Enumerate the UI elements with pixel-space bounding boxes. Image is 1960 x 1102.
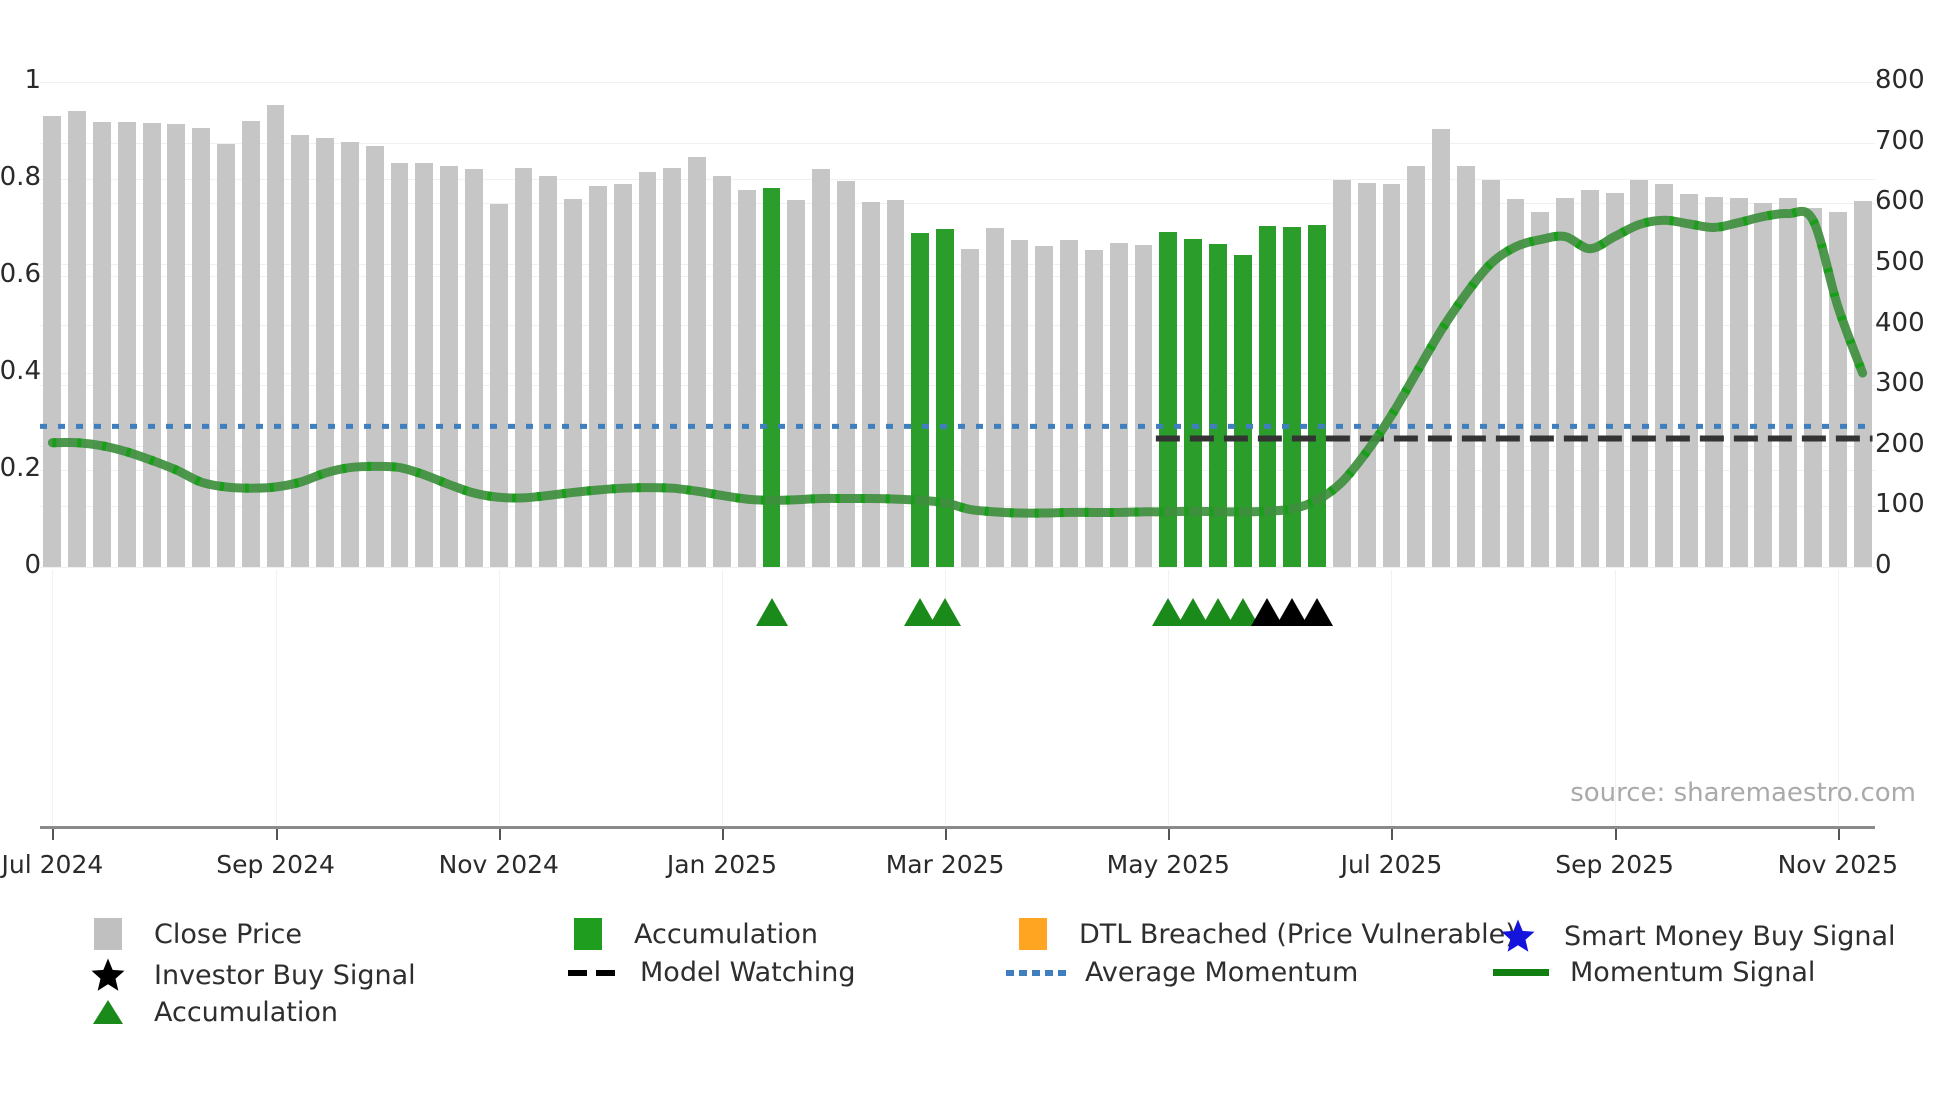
legend-label: Momentum Signal [1570, 957, 1815, 988]
close-price-bar[interactable] [68, 111, 86, 567]
close-price-bar[interactable] [1804, 208, 1822, 567]
close-price-bar[interactable] [43, 116, 61, 567]
y-tick-left: 0.4 [0, 356, 41, 386]
accumulation-bar[interactable] [1209, 244, 1227, 567]
x-tick-label: Sep 2025 [1555, 850, 1674, 879]
legend-momentum-signal[interactable]: Momentum Signal [1490, 957, 1815, 988]
close-price-bar[interactable] [465, 169, 483, 567]
investor-buy-triangle-marker[interactable] [1301, 598, 1333, 626]
y-tick-left: 0 [24, 550, 41, 580]
close-price-bar[interactable] [539, 176, 557, 567]
legend-label: Investor Buy Signal [154, 960, 416, 991]
y-tick-right: 400 [1875, 308, 1925, 338]
x-tick-mark [1168, 829, 1170, 840]
accumulation-bar[interactable] [1283, 227, 1301, 567]
square-swatch-icon [1019, 918, 1047, 950]
legend-label: Accumulation [634, 919, 818, 950]
close-price-bar[interactable] [1705, 197, 1723, 567]
close-price-bar[interactable] [688, 157, 706, 567]
accumulation-bar[interactable] [1259, 226, 1277, 567]
close-price-bar[interactable] [1779, 198, 1797, 567]
close-price-bar[interactable] [316, 138, 334, 567]
y-tick-right: 600 [1875, 186, 1925, 216]
x-tick-label: Nov 2025 [1778, 850, 1898, 879]
close-price-bar[interactable] [1680, 194, 1698, 567]
accumulation-bar[interactable] [936, 229, 954, 567]
close-price-bar[interactable] [1333, 180, 1351, 568]
x-tick-mark [52, 829, 54, 840]
close-price-bar[interactable] [515, 168, 533, 567]
plot-area [40, 82, 1875, 567]
close-price-bar[interactable] [391, 163, 409, 567]
y-tick-right: 0 [1875, 550, 1892, 580]
accumulation-triangle-marker[interactable] [756, 598, 788, 626]
x-tick-label: Jul 2024 [2, 850, 104, 879]
x-tick-label: Sep 2024 [216, 850, 335, 879]
close-price-bar[interactable] [490, 204, 508, 567]
legend-accumulation-bar[interactable]: Accumulation [560, 918, 818, 950]
legend-model-watching[interactable]: Model Watching [560, 957, 855, 988]
close-price-bar[interactable] [1854, 201, 1872, 567]
close-price-bar[interactable] [1531, 212, 1549, 568]
star-icon [90, 957, 126, 993]
close-price-bar[interactable] [118, 122, 136, 567]
close-price-bar[interactable] [862, 202, 880, 567]
accumulation-bar[interactable] [911, 233, 929, 567]
close-price-bar[interactable] [812, 169, 830, 567]
vertical-gridline [499, 570, 500, 825]
vertical-gridline [52, 570, 53, 825]
x-tick-mark [1391, 829, 1393, 840]
vertical-gridline [276, 570, 277, 825]
y-tick-right: 700 [1875, 126, 1925, 156]
close-price-bar[interactable] [1060, 240, 1078, 567]
close-price-bar[interactable] [167, 124, 185, 567]
x-tick-label: Mar 2025 [886, 850, 1005, 879]
gridline [40, 82, 1875, 83]
close-price-bar[interactable] [291, 135, 309, 567]
triangle-icon [90, 996, 126, 1028]
vertical-gridline [722, 570, 723, 825]
close-price-bar[interactable] [713, 176, 731, 567]
close-price-bar[interactable] [986, 228, 1004, 567]
close-price-bar[interactable] [887, 200, 905, 567]
y-tick-left: 0.2 [0, 453, 41, 483]
close-price-bar[interactable] [787, 200, 805, 567]
legend-investor-buy[interactable]: Investor Buy Signal [80, 957, 416, 993]
close-price-bar[interactable] [192, 128, 210, 567]
y-tick-left: 1 [24, 65, 41, 95]
x-tick-label: Nov 2024 [439, 850, 559, 879]
close-price-bar[interactable] [1011, 240, 1029, 567]
gridline [40, 567, 1875, 568]
accumulation-bar[interactable] [1159, 232, 1177, 567]
close-price-bar[interactable] [1507, 199, 1525, 567]
legend-average-momentum[interactable]: Average Momentum [1005, 957, 1358, 988]
y-tick-right: 300 [1875, 368, 1925, 398]
close-price-bar[interactable] [961, 249, 979, 567]
legend-smart-money-buy[interactable]: Smart Money Buy Signal [1490, 918, 1896, 954]
x-tick-mark [722, 829, 724, 840]
x-tick-mark [1838, 829, 1840, 840]
dotted-line-icon [1006, 970, 1066, 976]
y-tick-right: 800 [1875, 65, 1925, 95]
legend-row: Close PriceAccumulationDTL Breached (Pri… [80, 918, 1920, 957]
accumulation-bar[interactable] [1308, 225, 1326, 567]
x-tick-mark [945, 829, 947, 840]
legend-label: Smart Money Buy Signal [1564, 921, 1896, 952]
accumulation-triangle-marker[interactable] [929, 598, 961, 626]
close-price-bar[interactable] [738, 190, 756, 567]
close-price-bar[interactable] [564, 199, 582, 567]
legend-row: Investor Buy SignalModel WatchingAverage… [80, 957, 1920, 996]
chart-legend: Close PriceAccumulationDTL Breached (Pri… [80, 918, 1920, 1035]
close-price-bar[interactable] [589, 186, 607, 567]
close-price-bar[interactable] [1630, 180, 1648, 567]
close-price-bar[interactable] [415, 163, 433, 567]
close-price-bar[interactable] [1085, 250, 1103, 567]
source-attribution: source: sharemaestro.com [1570, 778, 1916, 808]
star-icon [1500, 918, 1536, 954]
x-tick-label: Jul 2025 [1341, 850, 1443, 879]
close-price-bar[interactable] [217, 144, 235, 567]
close-price-bar[interactable] [267, 105, 285, 567]
close-price-bar[interactable] [1556, 198, 1574, 567]
close-price-bar[interactable] [1432, 129, 1450, 567]
close-price-bar[interactable] [366, 146, 384, 567]
y-tick-right: 200 [1875, 429, 1925, 459]
y-tick-right: 500 [1875, 247, 1925, 277]
close-price-bar[interactable] [639, 172, 657, 567]
close-price-bar[interactable] [1035, 246, 1053, 567]
close-price-bar[interactable] [1754, 203, 1772, 567]
chart-root: 10.80.60.40.20 8007006005004003002001000… [0, 0, 1960, 1102]
legend-accumulation-marker[interactable]: Accumulation [80, 996, 338, 1028]
close-price-bar[interactable] [440, 166, 458, 567]
x-tick-label: Jan 2025 [667, 850, 777, 879]
legend-label: Close Price [154, 919, 302, 950]
x-tick-mark [499, 829, 501, 840]
close-price-bar[interactable] [1358, 183, 1376, 567]
x-axis-spine [40, 826, 1875, 829]
dashed-line-icon [568, 970, 615, 976]
x-tick-label: May 2025 [1107, 850, 1230, 879]
square-swatch-icon [574, 918, 602, 950]
close-price-bar[interactable] [1110, 243, 1128, 567]
legend-close-price[interactable]: Close Price [80, 918, 302, 950]
close-price-bar[interactable] [1606, 193, 1624, 567]
legend-label: Model Watching [640, 957, 855, 988]
close-price-bar[interactable] [341, 142, 359, 567]
legend-dtl-breached[interactable]: DTL Breached (Price Vulnerable) [1005, 918, 1516, 950]
close-price-bar[interactable] [1135, 245, 1153, 567]
close-price-bar[interactable] [837, 181, 855, 567]
legend-row: Accumulation [80, 996, 1920, 1035]
close-price-bar[interactable] [242, 121, 260, 567]
accumulation-bar[interactable] [1234, 255, 1252, 567]
close-price-bar[interactable] [1655, 184, 1673, 567]
close-price-bar[interactable] [1482, 180, 1500, 568]
accumulation-bar[interactable] [1184, 239, 1202, 567]
legend-label: Accumulation [154, 997, 338, 1028]
close-price-bar[interactable] [663, 168, 681, 567]
x-tick-mark [1615, 829, 1617, 840]
legend-label: DTL Breached (Price Vulnerable) [1079, 919, 1516, 950]
x-tick-mark [276, 829, 278, 840]
close-price-bar[interactable] [614, 184, 632, 567]
vertical-gridline [1391, 570, 1392, 825]
y-tick-left: 0.6 [0, 259, 41, 289]
accumulation-bar[interactable] [763, 188, 781, 567]
legend-label: Average Momentum [1085, 957, 1358, 988]
close-price-bar[interactable] [1581, 190, 1599, 567]
close-price-bar[interactable] [1383, 184, 1401, 567]
close-price-bar[interactable] [143, 123, 161, 567]
y-tick-right: 100 [1875, 489, 1925, 519]
close-price-bar[interactable] [1407, 166, 1425, 567]
y-tick-left: 0.8 [0, 162, 41, 192]
solid-line-icon [1493, 969, 1549, 976]
close-price-bar[interactable] [1829, 212, 1847, 568]
close-price-bar[interactable] [93, 122, 111, 567]
close-price-bar[interactable] [1457, 166, 1475, 567]
close-price-bar[interactable] [1730, 198, 1748, 567]
square-swatch-icon [94, 918, 122, 950]
